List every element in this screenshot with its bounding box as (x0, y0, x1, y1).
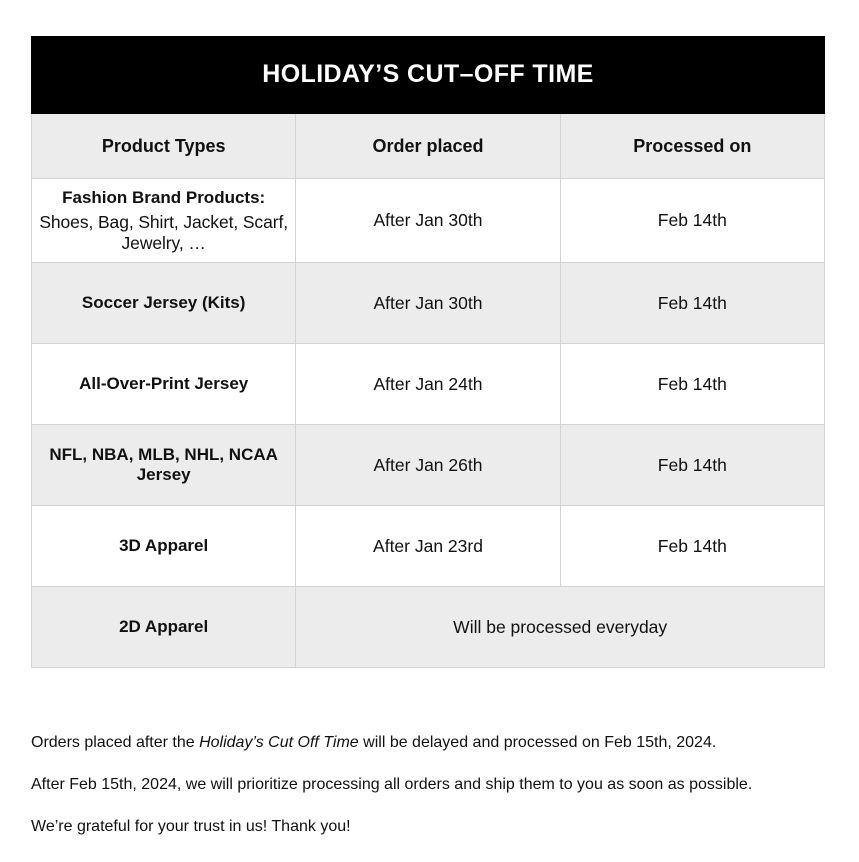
product-subtitle: Shoes, Bag, Shirt, Jacket, Scarf, Jewelr… (32, 212, 295, 254)
cell-order-placed: After Jan 30th (296, 179, 560, 263)
cell-processed-on: Feb 14th (560, 179, 824, 263)
note-text-after: will be delayed and processed on Feb 15t… (359, 734, 717, 751)
note-line-thanks: We’re grateful for your trust in us! Tha… (31, 817, 841, 836)
table-row: Soccer Jersey (Kits) After Jan 30th Feb … (32, 263, 825, 344)
table-title-cell: HOLIDAY’S CUT–OFF TIME (32, 37, 825, 114)
table-row: NFL, NBA, MLB, NHL, NCAA Jersey After Ja… (32, 425, 825, 506)
cell-processed-on: Feb 14th (560, 344, 824, 425)
cell-processed-on: Feb 14th (560, 263, 824, 344)
cell-order-placed: After Jan 24th (296, 344, 560, 425)
cell-product-type: NFL, NBA, MLB, NHL, NCAA Jersey (32, 425, 296, 506)
holiday-cutoff-table: HOLIDAY’S CUT–OFF TIME Product Types Ord… (31, 36, 825, 668)
cell-product-type: Soccer Jersey (Kits) (32, 263, 296, 344)
cell-order-placed: After Jan 23rd (296, 506, 560, 587)
cell-product-type: Fashion Brand Products: Shoes, Bag, Shir… (32, 179, 296, 263)
table-row: All-Over-Print Jersey After Jan 24th Feb… (32, 344, 825, 425)
cell-processed-on: Feb 14th (560, 506, 824, 587)
table-title-row: HOLIDAY’S CUT–OFF TIME (32, 37, 825, 114)
cell-product-type: 2D Apparel (32, 587, 296, 668)
column-header-product-types: Product Types (32, 114, 296, 179)
footer-notes: Orders placed after the Holiday’s Cut Of… (31, 733, 841, 837)
table-row: 3D Apparel After Jan 23rd Feb 14th (32, 506, 825, 587)
note-line-priority: After Feb 15th, 2024, we will prioritize… (31, 775, 841, 794)
column-header-processed-on: Processed on (560, 114, 824, 179)
cell-product-type: All-Over-Print Jersey (32, 344, 296, 425)
table-row: 2D Apparel Will be processed everyday (32, 587, 825, 668)
cell-processed-on: Feb 14th (560, 425, 824, 506)
cell-order-placed: After Jan 26th (296, 425, 560, 506)
note-emphasis-cutoff-time: Holiday’s Cut Off Time (199, 734, 359, 751)
product-name: Fashion Brand Products: (62, 188, 265, 207)
table-header-row: Product Types Order placed Processed on (32, 114, 825, 179)
cell-order-placed: After Jan 30th (296, 263, 560, 344)
cell-processing-note: Will be processed everyday (296, 587, 825, 668)
page-title: HOLIDAY’S CUT–OFF TIME (32, 61, 824, 89)
table-row: Fashion Brand Products: Shoes, Bag, Shir… (32, 179, 825, 263)
note-line-delay: Orders placed after the Holiday’s Cut Of… (31, 733, 841, 752)
note-text-before: Orders placed after the (31, 734, 199, 751)
cell-product-type: 3D Apparel (32, 506, 296, 587)
column-header-order-placed: Order placed (296, 114, 560, 179)
cutoff-notice-page: HOLIDAY’S CUT–OFF TIME Product Types Ord… (0, 0, 859, 862)
